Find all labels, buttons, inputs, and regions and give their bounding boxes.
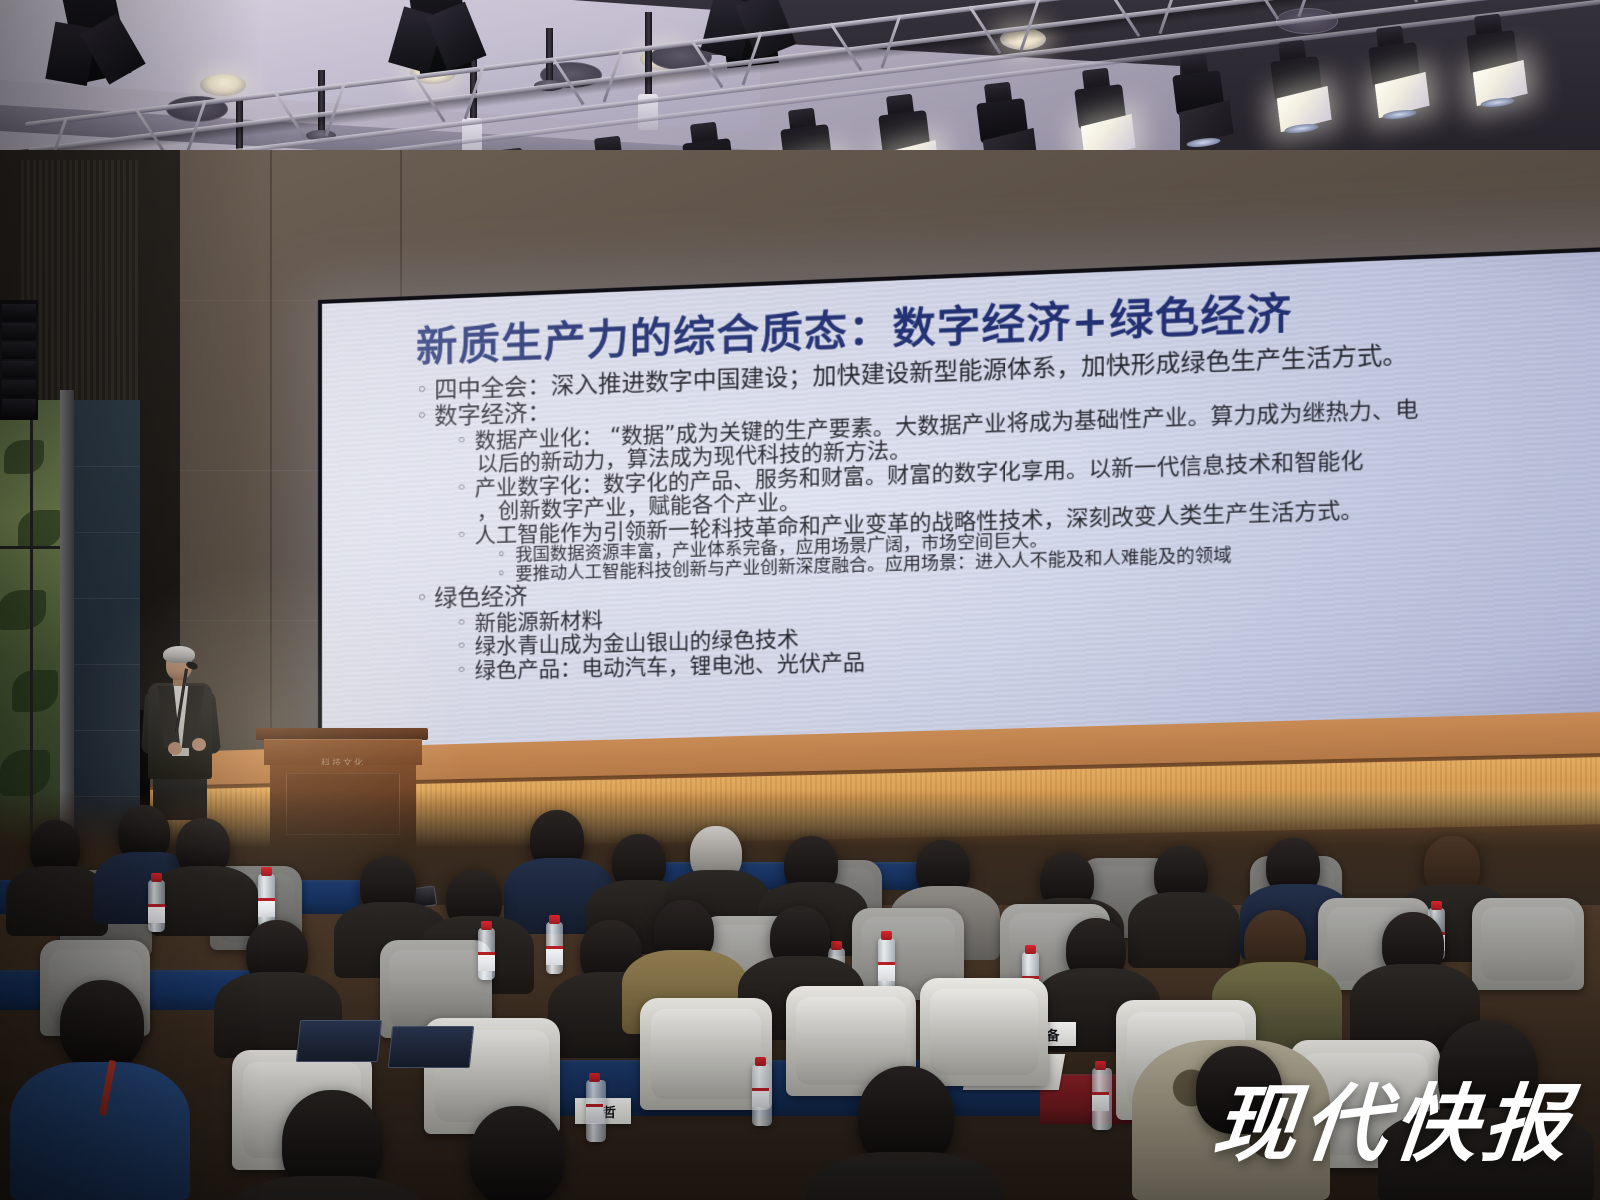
laptop	[296, 1020, 382, 1062]
conference-hall-photo: 新质生产力的综合质态：数字经济+绿色经济 四中全会：深入推进数字中国建设；加快建…	[0, 0, 1600, 1200]
water-bottle	[148, 880, 165, 932]
audience-shoulders	[6, 866, 108, 936]
audience-chair	[1472, 898, 1584, 990]
laptop	[388, 1026, 474, 1068]
speaker-hand-left	[168, 742, 182, 755]
water-bottle	[878, 938, 895, 990]
water-bottle	[752, 1064, 772, 1126]
line-array-speaker	[0, 300, 38, 420]
water-bottle	[258, 874, 275, 926]
audience-chair	[920, 978, 1048, 1086]
water-bottle	[1092, 1068, 1112, 1130]
water-bottle	[586, 1080, 606, 1142]
slide-content: 新质生产力的综合质态：数字经济+绿色经济 四中全会：深入推进数字中国建设；加快建…	[322, 248, 1600, 766]
presentation-screen: 新质生产力的综合质态：数字经济+绿色经济 四中全会：深入推进数字中国建设；加快建…	[318, 244, 1600, 770]
speaker-hand-right	[192, 738, 206, 751]
audience-head	[60, 980, 144, 1070]
audience-shoulders	[150, 866, 258, 936]
water-bottle	[478, 928, 495, 980]
water-bottle	[546, 922, 563, 974]
audience-head	[470, 1106, 564, 1200]
media-watermark: 现代快报	[1208, 1057, 1581, 1178]
slide-surface: 新质生产力的综合质态：数字经济+绿色经济 四中全会：深入推进数字中国建设；加快建…	[322, 248, 1600, 766]
slide-bullet-list: 四中全会：深入推进数字中国建设；加快建设新型能源体系，加快形成绿色生产生活方式。…	[410, 333, 1600, 685]
audience-shoulders	[10, 1062, 190, 1200]
audience-shoulders	[1128, 892, 1240, 968]
